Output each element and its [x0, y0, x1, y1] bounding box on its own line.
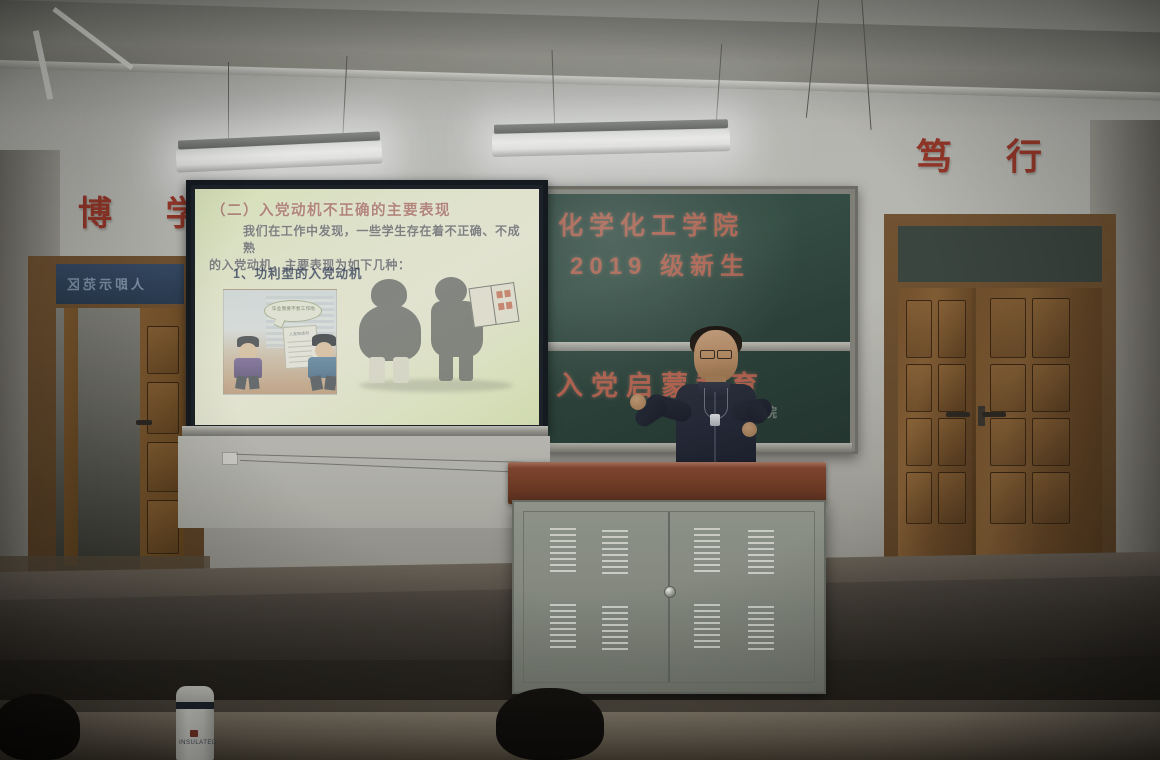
door-panel — [990, 472, 1026, 524]
door-panel — [990, 298, 1026, 358]
cartoon-leg — [324, 375, 337, 390]
cartoon-speech-bubble: 毕业我要不愁工作啦 — [264, 300, 322, 322]
slide-body-line-1: 我们在工作中发现，一些学生存在着不正确、不成熟 — [209, 223, 531, 257]
cartoon-book — [468, 282, 519, 328]
classroom-photo-scene: 博 学 笃 行 人即示范区 — [0, 0, 1160, 760]
right-door-handle-left[interactable] — [946, 412, 970, 417]
blackboard-line-1: 化学化工学院 — [558, 206, 744, 242]
projection-screen: （二）入党动机不正确的主要表现 我们在工作中发现，一些学生存在着不正确、不成熟 … — [195, 189, 539, 425]
right-door-handle-right[interactable] — [982, 412, 1006, 417]
door-panel — [147, 326, 179, 374]
door-panel — [906, 364, 932, 412]
vent-slats — [602, 606, 628, 650]
bottle-label: INSULATED — [179, 740, 211, 746]
bottle-logo-icon — [190, 730, 198, 737]
door-panel — [938, 472, 966, 524]
cartoon-paper-label: 入党申请书 — [289, 330, 309, 337]
door-panel — [147, 500, 179, 554]
cartoon-leg — [439, 353, 453, 381]
vent-slats — [748, 606, 774, 650]
left-door-handle[interactable] — [136, 420, 152, 425]
badge-icon — [710, 414, 720, 426]
door-panel — [990, 418, 1026, 466]
door-panel — [938, 418, 966, 466]
door-panel — [938, 364, 966, 412]
cartoon-leg — [310, 375, 323, 391]
cartoon-leg — [248, 376, 259, 390]
screen-lower-rail — [182, 426, 548, 436]
audience-head-center — [496, 688, 604, 760]
door-panel — [1032, 418, 1070, 466]
door-panel — [990, 364, 1026, 412]
cabinet-door-left[interactable] — [524, 512, 668, 682]
cartoon-leg — [459, 353, 473, 381]
wall-motto-right: 笃 行 — [916, 128, 1064, 180]
projection-screen-frame: （二）入党动机不正确的主要表现 我们在工作中发现，一些学生存在着不正确、不成熟 … — [186, 180, 548, 434]
door-panel — [906, 300, 932, 358]
audience-head-left — [0, 694, 80, 760]
cartoon-figure-left — [232, 336, 266, 388]
left-door-frame[interactable]: 人即示范区 — [28, 256, 204, 586]
door-panel — [1032, 298, 1070, 358]
door-transom-panel — [898, 226, 1102, 282]
blackboard-line-2: 2019 级新生 — [570, 246, 750, 281]
cartoon-body — [359, 305, 421, 361]
cartoon-bubble-text: 毕业我要不愁工作啦 — [272, 306, 315, 312]
vent-slats — [748, 530, 774, 574]
slide-subheading: 1、功利型的入党动机 — [233, 263, 362, 282]
speaker-left-hand — [630, 394, 646, 410]
vent-slats — [694, 528, 720, 572]
water-bottle[interactable]: INSULATED — [176, 700, 214, 760]
vent-slats — [550, 528, 576, 572]
wall-below-screen — [178, 436, 550, 528]
left-door-sign-text: 人即示范区 — [64, 274, 144, 293]
lectern-cabinet[interactable] — [512, 500, 826, 694]
cartoon-figure-right — [308, 334, 337, 390]
vent-slats — [602, 530, 628, 574]
door-panel — [938, 300, 966, 358]
cartoon-big-figure-b — [431, 277, 517, 383]
vent-slats — [550, 604, 576, 648]
door-panel — [906, 472, 932, 524]
door-panel — [147, 382, 179, 434]
ceiling-beam — [0, 0, 1160, 100]
cartoon-leg — [369, 357, 385, 383]
cabinet-door-right[interactable] — [668, 512, 814, 682]
lectern-desktop — [508, 462, 826, 504]
left-door-leaf-inner[interactable] — [64, 308, 78, 566]
slide-cartoon-right — [347, 275, 527, 397]
cartoon-torso — [308, 357, 337, 378]
door-panel — [147, 442, 179, 492]
slide-title: （二）入党动机不正确的主要表现 — [211, 199, 451, 220]
glasses-icon — [700, 350, 732, 357]
lamp-cable-1 — [228, 62, 229, 146]
door-panel — [906, 418, 932, 466]
door-panel — [1032, 472, 1070, 524]
speaker-right-hand — [742, 422, 757, 437]
cabinet-knob[interactable] — [664, 586, 676, 598]
cartoon-leg — [393, 357, 409, 383]
vent-slats — [694, 604, 720, 648]
bottle-band — [176, 702, 214, 709]
slide-cartoon-left: 毕业我要不愁工作啦 入党申请书 — [223, 289, 337, 395]
cartoon-big-figure-a — [357, 279, 427, 383]
ceiling — [0, 0, 1160, 120]
door-panel — [1032, 364, 1070, 412]
cartoon-leg — [235, 375, 247, 389]
left-door-sign: 人即示范区 — [56, 264, 184, 304]
